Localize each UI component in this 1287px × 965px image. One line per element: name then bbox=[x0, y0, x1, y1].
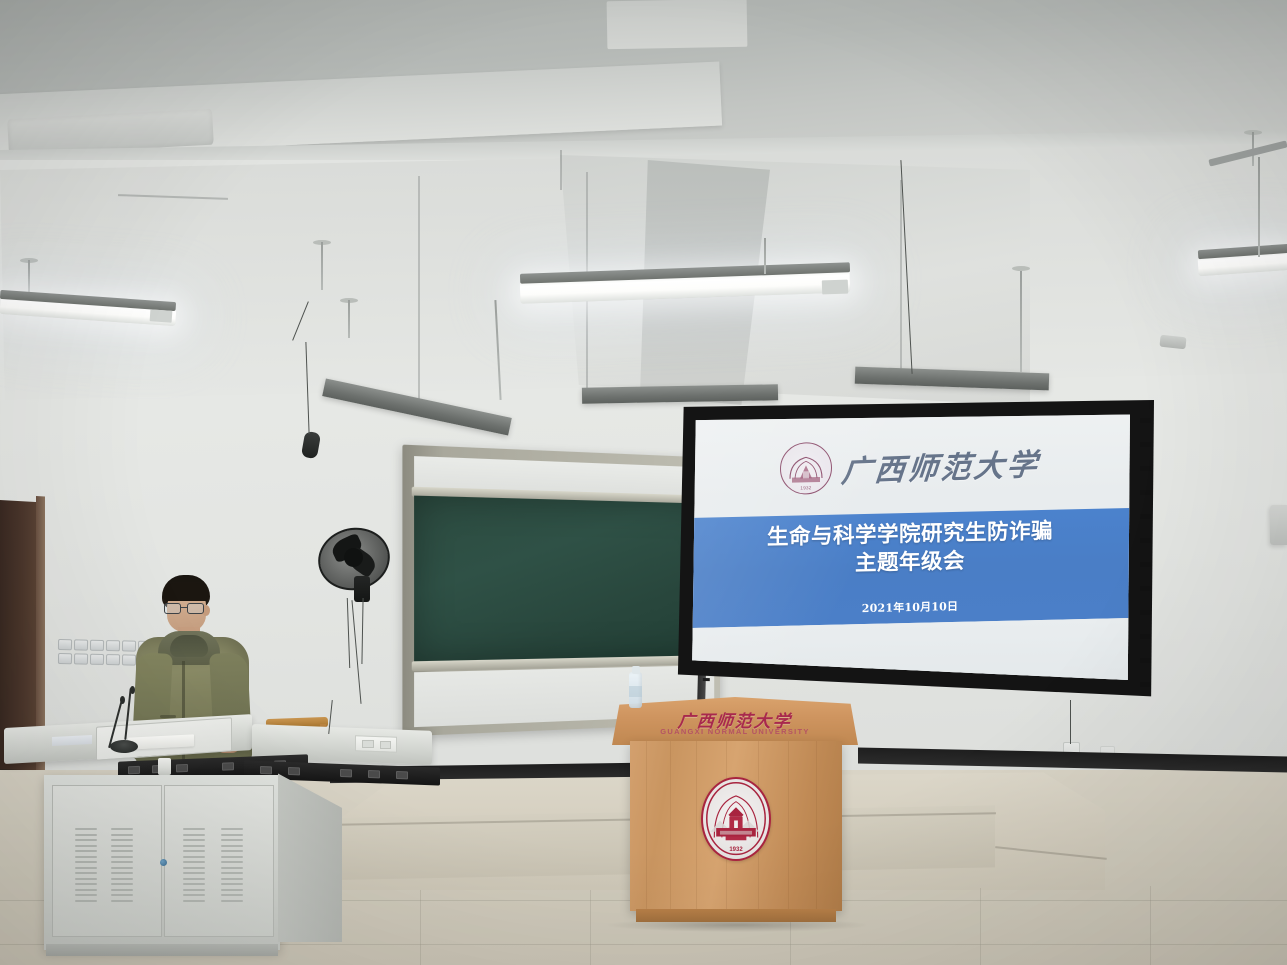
microphone-base bbox=[110, 740, 138, 753]
rack-button[interactable] bbox=[260, 766, 272, 774]
floor-tile-line bbox=[1150, 886, 1151, 965]
outlet[interactable] bbox=[90, 654, 104, 665]
desk-port[interactable] bbox=[362, 740, 374, 748]
pendant-light-center-endcap bbox=[822, 280, 848, 295]
rack-button[interactable] bbox=[368, 770, 380, 778]
desk-port[interactable] bbox=[380, 741, 391, 749]
ceiling-vent-panel-2 bbox=[607, 0, 748, 49]
microphone-capsule bbox=[130, 686, 135, 694]
rack-button[interactable] bbox=[176, 764, 188, 772]
outlet[interactable] bbox=[58, 653, 72, 664]
water-bottle-cap bbox=[632, 666, 640, 674]
baffle-rod bbox=[1020, 270, 1022, 372]
outlet[interactable] bbox=[74, 639, 88, 650]
outlet[interactable] bbox=[74, 653, 88, 664]
cabinet-vent bbox=[111, 828, 133, 902]
outlet[interactable] bbox=[106, 654, 120, 665]
podium-front-panel: 1932 bbox=[630, 741, 842, 911]
cabinet-vent bbox=[221, 828, 243, 902]
outlet[interactable] bbox=[106, 640, 120, 651]
blackboard bbox=[402, 445, 720, 737]
rack-button[interactable] bbox=[128, 766, 140, 774]
fan-hub bbox=[344, 548, 363, 567]
floor-tile-line bbox=[420, 890, 421, 965]
cabinet-lock-icon[interactable] bbox=[160, 859, 167, 866]
ceiling-rod bbox=[1258, 157, 1260, 257]
ceiling-rod bbox=[321, 242, 323, 290]
ceiling-rod-plate bbox=[1012, 266, 1030, 271]
presenter-fringe bbox=[163, 583, 209, 601]
outlet[interactable] bbox=[90, 640, 104, 651]
screen-surface: 1932 广西师范大学 生命与科学学院研究生防诈骗 主题年级会 2021年10月… bbox=[690, 414, 1130, 694]
wall-seam bbox=[418, 176, 420, 404]
wall-crack bbox=[560, 150, 562, 190]
presentation-slide: 1932 广西师范大学 生命与科学学院研究生防诈骗 主题年级会 2021年10月… bbox=[690, 414, 1130, 694]
seal-building-icon bbox=[786, 452, 826, 487]
podium-university-name-en: GUANGXI NORMAL UNIVERSITY bbox=[612, 727, 858, 736]
slide-title: 生命与科学学院研究生防诈骗 主题年级会 bbox=[690, 516, 1130, 582]
slide-header: 1932 广西师范大学 bbox=[690, 414, 1130, 520]
classroom-photo-scene: 1932 广西师范大学 生命与科学学院研究生防诈骗 主题年级会 2021年10月… bbox=[0, 0, 1287, 965]
podium-top-panel: 广西师范大学 GUANGXI NORMAL UNIVERSITY bbox=[612, 697, 858, 745]
floor-tile-line bbox=[590, 890, 591, 965]
outlet[interactable] bbox=[58, 639, 72, 650]
university-crest-icon: 1932 bbox=[701, 777, 771, 861]
screen-tension-tabs bbox=[1139, 412, 1151, 702]
cabinet-vent bbox=[75, 828, 97, 902]
rack-knob[interactable] bbox=[158, 758, 171, 775]
projection-screen: 1932 广西师范大学 生命与科学学院研究生防诈骗 主题年级会 2021年10月… bbox=[676, 400, 1154, 712]
lectern-podium: 广西师范大学 GUANGXI NORMAL UNIVERSITY bbox=[612, 697, 858, 927]
rack-button[interactable] bbox=[222, 762, 234, 770]
rack-button[interactable] bbox=[288, 767, 300, 775]
wall-speaker bbox=[1270, 505, 1287, 545]
cabinet-door-left[interactable] bbox=[52, 785, 162, 937]
rack-button[interactable] bbox=[340, 769, 352, 777]
slide-university-name: 广西师范大学 bbox=[840, 440, 1042, 491]
cabinet-door-right[interactable] bbox=[164, 785, 274, 937]
slide-date: 2021年10月10日 bbox=[690, 594, 1130, 620]
floor-tile-line bbox=[980, 888, 981, 965]
cabinet-vent bbox=[183, 828, 205, 902]
wall-camera-mount bbox=[1159, 335, 1186, 350]
presenter-hood-opening bbox=[170, 635, 208, 657]
seal-year: 1932 bbox=[781, 485, 831, 491]
presenter-glasses-icon bbox=[164, 603, 208, 614]
podium-base bbox=[636, 909, 836, 922]
rack-button[interactable] bbox=[396, 771, 408, 779]
wall-seam bbox=[900, 180, 902, 375]
control-desk-plinth bbox=[46, 944, 278, 956]
microphone-capsule bbox=[120, 696, 125, 704]
crest-year: 1932 bbox=[703, 847, 769, 853]
ceiling-rod bbox=[764, 238, 766, 274]
slide-title-band: 生命与科学学院研究生防诈骗 主题年级会 2021年10月10日 bbox=[690, 508, 1130, 628]
university-seal-icon: 1932 bbox=[780, 442, 832, 495]
control-desk-cabinet bbox=[44, 775, 280, 950]
blackboard-writing-surface bbox=[414, 496, 714, 663]
pendant-light-left-endcap bbox=[150, 309, 173, 323]
water-bottle-label bbox=[629, 686, 642, 697]
ceiling-rod bbox=[348, 300, 350, 338]
